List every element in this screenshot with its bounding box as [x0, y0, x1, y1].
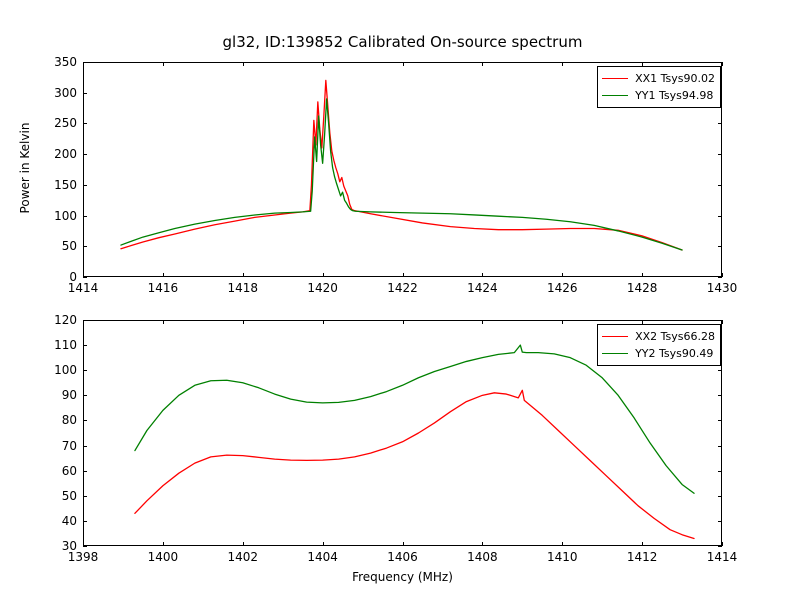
legend-line-icon — [602, 353, 628, 354]
x-tick-mark-top — [562, 320, 563, 324]
x-tick-mark — [562, 542, 563, 546]
y-tick-label: 40 — [21, 514, 77, 528]
y-tick-label: 70 — [21, 439, 77, 453]
x-tick-mark — [243, 542, 244, 546]
bottom-plot-legend: XX2 Tsys66.28YY2 Tsys90.49 — [597, 324, 721, 366]
y-tick-mark — [83, 546, 87, 547]
x-tick-mark — [722, 542, 723, 546]
data-series-line — [135, 390, 694, 538]
x-tick-label: 1410 — [547, 550, 578, 564]
y-tick-mark — [83, 345, 87, 346]
x-tick-label: 1412 — [627, 550, 658, 564]
x-tick-label: 1408 — [467, 550, 498, 564]
y-tick-mark — [83, 446, 87, 447]
legend-label: YY2 Tsys90.49 — [635, 347, 713, 360]
x-tick-label: 1404 — [307, 550, 338, 564]
y-tick-mark — [83, 496, 87, 497]
x-tick-mark — [323, 542, 324, 546]
x-tick-mark — [163, 542, 164, 546]
y-tick-mark-right — [718, 496, 722, 497]
x-tick-label: 1406 — [387, 550, 418, 564]
data-series-line — [135, 345, 694, 493]
y-tick-mark-right — [718, 446, 722, 447]
x-tick-mark-top — [83, 320, 84, 324]
x-tick-mark-top — [323, 320, 324, 324]
y-tick-label: 110 — [21, 338, 77, 352]
x-tick-label: 1400 — [148, 550, 179, 564]
x-axis-label: Frequency (MHz) — [83, 570, 722, 584]
legend-line-icon — [602, 336, 628, 337]
y-tick-mark-right — [718, 521, 722, 522]
y-tick-mark-right — [718, 420, 722, 421]
y-tick-mark — [83, 370, 87, 371]
y-tick-mark-right — [718, 370, 722, 371]
y-tick-label: 90 — [21, 388, 77, 402]
x-tick-mark — [482, 542, 483, 546]
x-tick-mark-top — [243, 320, 244, 324]
x-tick-mark-top — [722, 320, 723, 324]
y-tick-mark — [83, 395, 87, 396]
legend-entry: YY2 Tsys90.49 — [602, 345, 715, 362]
y-tick-label: 50 — [21, 489, 77, 503]
bottom-plot-lines — [0, 0, 800, 600]
x-tick-mark — [642, 542, 643, 546]
x-tick-label: 1414 — [707, 550, 738, 564]
x-tick-mark-top — [163, 320, 164, 324]
y-tick-mark — [83, 471, 87, 472]
y-tick-mark — [83, 521, 87, 522]
x-tick-mark — [83, 542, 84, 546]
y-tick-mark-right — [718, 395, 722, 396]
legend-label: XX2 Tsys66.28 — [635, 330, 715, 343]
y-tick-label: 80 — [21, 413, 77, 427]
y-tick-label: 100 — [21, 363, 77, 377]
x-tick-label: 1398 — [68, 550, 99, 564]
y-tick-mark-right — [718, 471, 722, 472]
y-tick-mark-right — [718, 546, 722, 547]
figure-canvas: gl32, ID:139852 Calibrated On-source spe… — [0, 0, 800, 600]
legend-entry: XX2 Tsys66.28 — [602, 328, 715, 345]
y-tick-label: 120 — [21, 313, 77, 327]
x-tick-mark — [403, 542, 404, 546]
x-tick-label: 1402 — [227, 550, 258, 564]
x-tick-mark-top — [482, 320, 483, 324]
y-tick-mark — [83, 420, 87, 421]
y-tick-label: 60 — [21, 464, 77, 478]
x-tick-mark-top — [403, 320, 404, 324]
